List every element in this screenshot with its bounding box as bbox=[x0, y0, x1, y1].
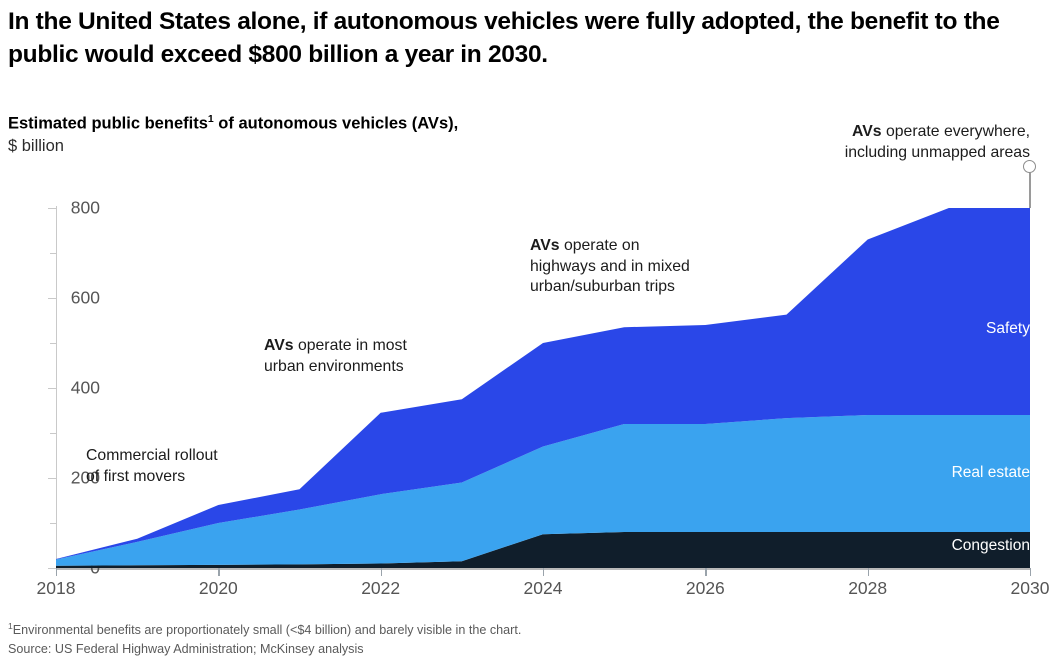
x-tick-label: 2018 bbox=[37, 578, 76, 599]
area-chart: 0200400600800 20182020202220242026202820… bbox=[0, 168, 1052, 600]
annotation-urban-environments: AVs operate in most urban environments bbox=[264, 336, 407, 377]
footnotes: 1Environmental benefits are proportionat… bbox=[8, 620, 908, 659]
chart-subtitle: Estimated public benefits1 of autonomous… bbox=[8, 112, 628, 158]
x-tick-label: 2030 bbox=[1011, 578, 1050, 599]
x-tick bbox=[56, 568, 57, 576]
annotation-line-1: operate everywhere, bbox=[882, 123, 1030, 140]
series-label-safety: Safety bbox=[986, 320, 1030, 338]
annotation-line-2: of first movers bbox=[86, 468, 185, 485]
annotation-line-1: Commercial rollout bbox=[86, 447, 218, 464]
subtitle-unit: $ billion bbox=[8, 137, 64, 155]
series-label-real-estate: Real estate bbox=[952, 464, 1030, 482]
annotation-highways-mixed: AVs operate on highways and in mixed urb… bbox=[530, 236, 690, 298]
x-tick bbox=[868, 568, 869, 576]
annotation-line-1: operate on bbox=[560, 237, 640, 254]
annotation-bold: AVs bbox=[264, 337, 294, 354]
x-tick-label: 2028 bbox=[848, 578, 887, 599]
x-tick-label: 2020 bbox=[199, 578, 238, 599]
x-tick bbox=[705, 568, 706, 576]
x-tick bbox=[1030, 568, 1031, 576]
annotation-bold: AVs bbox=[530, 237, 560, 254]
endpoint-marker-stem bbox=[1029, 173, 1030, 208]
x-tick-label: 2022 bbox=[361, 578, 400, 599]
subtitle-main: Estimated public benefits bbox=[8, 115, 208, 133]
series-label-congestion: Congestion bbox=[952, 537, 1030, 555]
annotation-line-2: urban environments bbox=[264, 358, 404, 375]
chart-page: In the United States alone, if autonomou… bbox=[0, 0, 1052, 662]
annotation-everywhere-unmapped: AVs operate everywhere, including unmapp… bbox=[845, 122, 1030, 163]
x-tick-label: 2026 bbox=[686, 578, 725, 599]
annotation-line-2: including unmapped areas bbox=[845, 144, 1030, 161]
x-tick bbox=[381, 568, 382, 576]
annotation-line-2: highways and in mixed bbox=[530, 258, 690, 275]
annotation-bold: AVs bbox=[852, 123, 882, 140]
x-tick-label: 2024 bbox=[524, 578, 563, 599]
annotation-line-1: operate in most bbox=[294, 337, 407, 354]
x-tick bbox=[218, 568, 219, 576]
footnote-1: 1Environmental benefits are proportionat… bbox=[8, 620, 908, 640]
x-tick bbox=[543, 568, 544, 576]
footnote-source: Source: US Federal Highway Administratio… bbox=[8, 640, 908, 659]
page-title: In the United States alone, if autonomou… bbox=[8, 6, 1018, 71]
annotation-line-3: urban/suburban trips bbox=[530, 278, 675, 295]
endpoint-marker-dot bbox=[1023, 160, 1036, 173]
subtitle-main-rest: of autonomous vehicles (AVs), bbox=[214, 115, 458, 133]
annotation-commercial-rollout: Commercial rollout of first movers bbox=[86, 446, 218, 487]
footnote-1-text: Environmental benefits are proportionate… bbox=[13, 623, 522, 637]
